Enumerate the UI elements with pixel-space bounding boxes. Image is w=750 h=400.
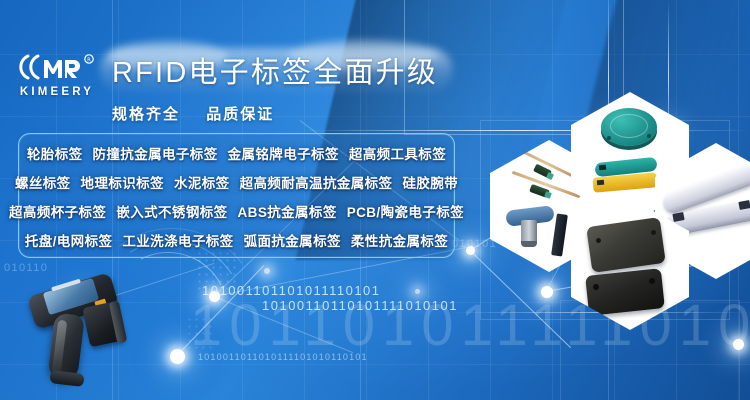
subtitle: 规格齐全 品质保证 [112,103,294,124]
tag-item[interactable]: 弧面抗金属标签 [239,230,346,250]
tag-item[interactable]: 柔性抗金属标签 [346,230,453,250]
kimeery-logo-icon: R [14,52,100,84]
network-node [264,268,270,274]
binary-text-mid-upper: 10100110110101111010101 [262,298,458,313]
binary-text-faint-right: 010101 [452,238,497,250]
subtitle-left: 规格齐全 [112,106,180,123]
title-block: RFID电子标签全面升级 [100,48,452,92]
tag-item[interactable]: 轮胎标签 [22,143,88,163]
rfid-banner: 1011010111110101 101001101101011110101 1… [0,0,750,400]
page-title: RFID电子标签全面升级 [100,48,452,92]
subtitle-right: 品质保证 [206,106,274,123]
tag-item[interactable]: 托盘/电网标签 [20,230,118,250]
tag-row: 托盘/电网标签 工业洗涤电子标签 弧面抗金属标签 柔性抗金属标签 [25,226,448,255]
tag-item[interactable]: 嵌入式不锈钢标签 [111,201,232,221]
binary-text-small-bottom: 1010011011010111101010110101 [198,352,368,362]
tag-row: 轮胎标签 防撞抗金属电子标签 金属铭牌电子标签 超高频工具标签 [25,139,448,168]
tag-row: 超高频杯子标签 嵌入式不锈钢标签 ABS抗金属标签 PCB/陶瓷电子标签 [25,197,448,226]
brand-name: KIMEERY [14,86,100,98]
handheld-reader-icon [28,276,163,394]
tag-item[interactable]: 超高频杯子标签 [4,201,111,221]
tag-item[interactable]: 螺丝标签 [10,172,76,192]
tag-item[interactable]: 地理标识标签 [76,172,169,192]
tag-item[interactable]: 硅胶腕带 [397,172,463,192]
tag-item[interactable]: 超高频耐高温抗金属标签 [235,172,398,192]
tag-item[interactable]: ABS抗金属标签 [233,201,342,221]
tag-item[interactable]: 水泥标签 [169,172,235,192]
tag-row: 螺丝标签 地理标识标签 水泥标签 超高频耐高温抗金属标签 硅胶腕带 [25,168,448,197]
tag-list-panel: 轮胎标签 防撞抗金属电子标签 金属铭牌电子标签 超高频工具标签 螺丝标签 地理标… [18,133,455,258]
binary-text-mid-top: 101001101101011110101 [202,283,381,298]
tag-item[interactable]: 防撞抗金属电子标签 [88,143,223,163]
tag-item[interactable]: 工业洗涤电子标签 [117,230,238,250]
tag-item[interactable]: PCB/陶瓷电子标签 [342,201,469,221]
svg-text:R: R [87,58,91,64]
tag-item[interactable]: 超高频工具标签 [344,143,451,163]
tag-item[interactable]: 金属铭牌电子标签 [223,143,344,163]
handheld-rfid-reader[interactable] [28,276,163,394]
binary-text-faint-left: 010110 [4,262,48,274]
brand-logo[interactable]: R KIMEERY [14,52,100,108]
